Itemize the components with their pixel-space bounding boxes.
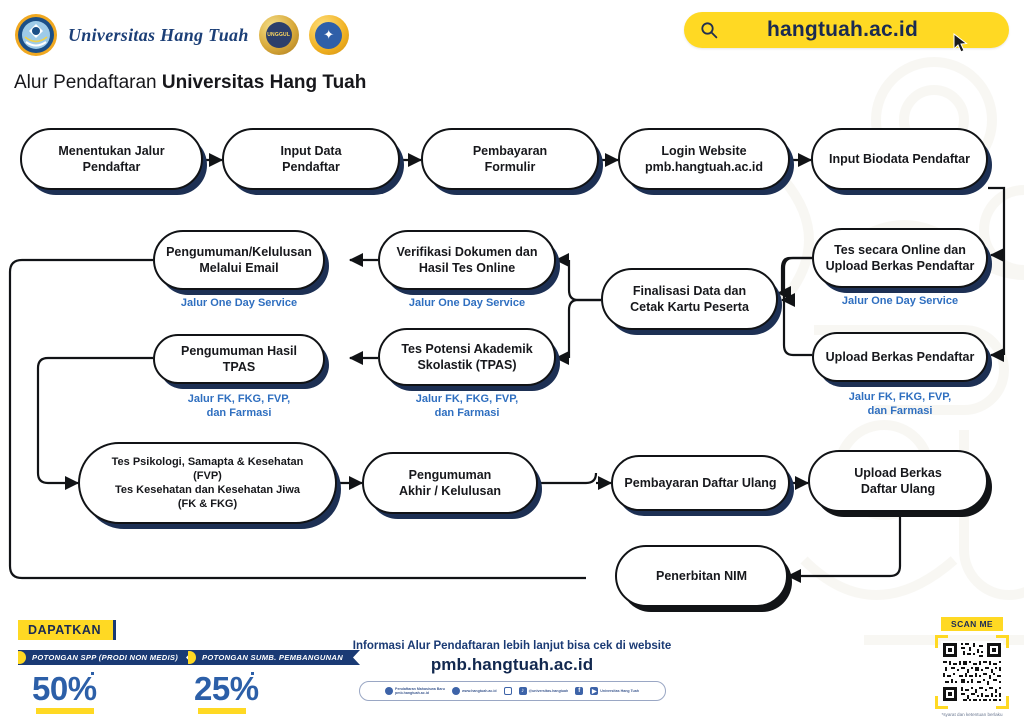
flow-node-label: Pengumuman/Kelulusan Melalui Email <box>166 244 312 276</box>
flow-tag-fk-fkg-fvp-mid: Jalur FK, FKG, FVP, dan Farmasi <box>378 392 556 421</box>
flow-node-label: Upload Berkas Daftar Ulang <box>854 465 942 497</box>
flow-node-finalisasi-data[interactable]: Finalisasi Data dan Cetak Kartu Peserta <box>601 268 778 330</box>
mouse-cursor-icon <box>953 33 969 53</box>
qr-code[interactable] <box>935 635 1009 709</box>
flow-node-label: Login Website pmb.hangtuah.ac.id <box>645 143 763 175</box>
search-icon <box>700 21 718 39</box>
flow-node-pengumuman-hasil-tpas[interactable]: Pengumuman Hasil TPAS <box>153 334 325 384</box>
brand-logo-row: Universitas Hang Tuah UNGGUL ✦ <box>14 12 349 58</box>
qr-terms-note: *syarat dan ketentuan berlaku <box>931 712 1013 717</box>
footer-info-line: Informasi Alur Pendaftaran lebih lanjut … <box>0 640 1024 652</box>
unggul-badge-label: UNGGUL <box>266 22 292 48</box>
flow-node-input-data[interactable]: Input Data Pendaftar <box>222 128 400 190</box>
page-title-prefix: Alur Pendaftaran <box>14 72 162 93</box>
promo-underline-pembangunan <box>198 708 246 714</box>
flow-node-penerbitan-nim[interactable]: Penerbitan NIM <box>615 545 788 607</box>
qr-block: SCAN ME <box>931 617 1013 717</box>
flow-node-input-biodata[interactable]: Input Biodata Pendaftar <box>811 128 988 190</box>
university-seal-icon <box>14 12 58 58</box>
youtube-icon: ▶ <box>590 687 598 695</box>
registration-flowchart: Menentukan Jalur Pendaftar Input Data Pe… <box>0 100 1024 610</box>
flow-node-label: Finalisasi Data dan Cetak Kartu Peserta <box>630 283 749 315</box>
flow-tag-one-day-service-mid: Jalur One Day Service <box>378 296 556 310</box>
promo-dapatkan-label: DAPATKAN <box>18 620 116 640</box>
flow-node-pengumuman-akhir[interactable]: Pengumuman Akhir / Kelulusan <box>362 452 538 514</box>
flow-node-tes-psikologi-kesehatan[interactable]: Tes Psikologi, Samapta & Kesehatan (FVP)… <box>78 442 337 524</box>
flow-node-pembayaran-formulir[interactable]: Pembayaran Formulir <box>421 128 599 190</box>
flow-tag-fk-fkg-fvp-right: Jalur FK, FKG, FVP, dan Farmasi <box>812 390 988 419</box>
flow-node-label: Pembayaran Formulir <box>473 143 547 175</box>
flow-node-label: Pengumuman Hasil TPAS <box>165 343 313 375</box>
facebook-icon[interactable]: f <box>575 687 583 695</box>
contact-youtube[interactable]: ▶ Universitas Hang Tuah <box>590 687 639 695</box>
flow-node-label: Pengumuman Akhir / Kelulusan <box>399 467 501 499</box>
flow-node-label: Tes Potensi Akademik Skolastik (TPAS) <box>401 341 532 373</box>
flow-node-pengumuman-email[interactable]: Pengumuman/Kelulusan Melalui Email <box>153 230 325 290</box>
search-input[interactable]: hangtuah.ac.id <box>718 18 993 42</box>
contact-social-handle[interactable]: ♪ @universitas.hangtuah <box>519 687 569 695</box>
flow-node-login-website[interactable]: Login Website pmb.hangtuah.ac.id <box>618 128 790 190</box>
flow-node-label: Pembayaran Daftar Ulang <box>624 475 776 491</box>
flow-tag-one-day-service-right: Jalur One Day Service <box>812 294 988 308</box>
contact-pmb[interactable]: Pendaftaran Mahasiswa Baru pmb.hangtuah.… <box>385 687 445 695</box>
flow-node-label: Input Biodata Pendaftar <box>829 151 970 167</box>
flow-node-label: Verifikasi Dokumen dan Hasil Tes Online <box>396 244 537 276</box>
flow-node-label: Menentukan Jalur Pendaftar <box>58 143 164 175</box>
globe-icon <box>385 687 393 695</box>
page-title: Alur Pendaftaran Universitas Hang Tuah <box>14 72 366 94</box>
flow-node-pembayaran-daftar-ulang[interactable]: Pembayaran Daftar Ulang <box>611 455 790 511</box>
unggul-badge-icon: UNGGUL <box>259 15 299 55</box>
flow-node-label: Penerbitan NIM <box>656 568 747 584</box>
merdeka-badge-icon: ✦ <box>309 15 349 55</box>
flow-node-label: Tes Psikologi, Samapta & Kesehatan (FVP)… <box>112 455 304 511</box>
flow-node-label: Tes secara Online dan Upload Berkas Pend… <box>826 242 975 274</box>
merdeka-badge-glyph: ✦ <box>315 22 342 49</box>
tiktok-icon: ♪ <box>519 687 527 695</box>
footer-info: Informasi Alur Pendaftaran lebih lanjut … <box>0 640 1024 701</box>
flow-node-upload-berkas-pendaftar[interactable]: Upload Berkas Pendaftar <box>812 332 988 382</box>
footer-contact-bar: Pendaftaran Mahasiswa Baru pmb.hangtuah.… <box>359 681 666 701</box>
globe-icon <box>452 687 460 695</box>
promo-underline-spp <box>36 708 94 714</box>
contact-website-label: www.hangtuah.ac.id <box>462 689 497 693</box>
flow-node-verifikasi-dokumen[interactable]: Verifikasi Dokumen dan Hasil Tes Online <box>378 230 556 290</box>
contact-handle-label: @universitas.hangtuah <box>529 689 569 693</box>
contact-website[interactable]: www.hangtuah.ac.id <box>452 687 497 695</box>
instagram-icon[interactable] <box>504 687 512 695</box>
qr-matrix-icon <box>941 641 1003 703</box>
contact-youtube-label: Universitas Hang Tuah <box>600 689 639 693</box>
flow-node-label: Upload Berkas Pendaftar <box>826 349 975 365</box>
footer-website-url[interactable]: pmb.hangtuah.ac.id <box>0 655 1024 675</box>
page-title-strong: Universitas Hang Tuah <box>162 72 366 93</box>
flow-node-tes-online-upload[interactable]: Tes secara Online dan Upload Berkas Pend… <box>812 228 988 288</box>
flow-node-tes-potensi-akademik[interactable]: Tes Potensi Akademik Skolastik (TPAS) <box>378 328 556 386</box>
flow-tag-fk-fkg-fvp-left: Jalur FK, FKG, FVP, dan Farmasi <box>153 392 325 421</box>
flow-node-label: Input Data Pendaftar <box>280 143 341 175</box>
flow-node-upload-berkas-daftar-ulang[interactable]: Upload Berkas Daftar Ulang <box>808 450 988 512</box>
flow-node-menentukan-jalur[interactable]: Menentukan Jalur Pendaftar <box>20 128 203 190</box>
wordmark-text: Universitas Hang Tuah <box>68 25 249 46</box>
contact-pmb-line-b: pmb.hangtuah.ac.id <box>395 691 445 695</box>
scan-me-label: SCAN ME <box>941 617 1003 631</box>
flow-tag-one-day-service-left: Jalur One Day Service <box>153 296 325 310</box>
